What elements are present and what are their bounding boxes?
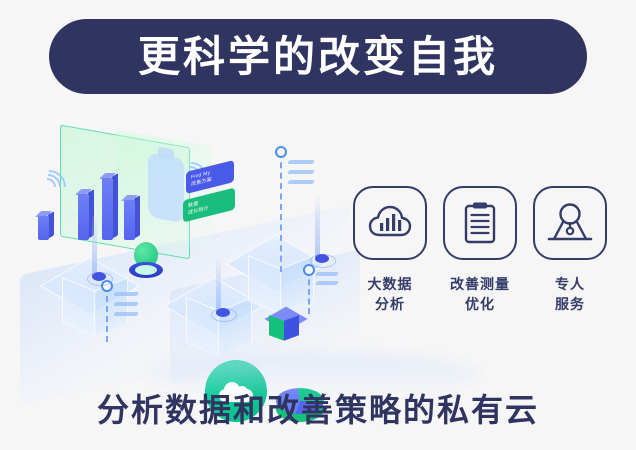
measure-post — [315, 196, 320, 260]
cloud-bar-chart-icon — [353, 186, 427, 260]
glass-cube — [180, 290, 246, 356]
decor-slant — [287, 180, 315, 184]
glass-cube — [242, 248, 308, 314]
feature-label-line2: 分析 — [375, 296, 405, 312]
feature-label-big-data: 大数据 分析 — [368, 274, 413, 314]
feature-label-line1: 改善测量 — [450, 276, 510, 292]
measure-post — [216, 258, 221, 314]
tagline: 分析数据和改善策略的私有云 — [0, 385, 636, 431]
bar-3d — [78, 194, 89, 240]
banner-title: 更科学的改变自我 — [138, 36, 498, 78]
decor-slant — [113, 312, 139, 316]
color-cube — [269, 310, 303, 344]
dashed-guide — [308, 270, 310, 314]
bar-3d — [102, 178, 113, 240]
pin-disc-inner — [135, 265, 157, 275]
feature-item-service[interactable]: 专人 服务 — [532, 186, 608, 326]
feature-item-big-data[interactable]: 大数据 分析 — [352, 186, 428, 326]
feature-item-measurement[interactable]: 改善测量 优化 — [442, 186, 518, 326]
decor-slant — [287, 170, 315, 174]
feature-label-line1: 专人 — [555, 276, 585, 292]
feature-label-line1: 大数据 — [368, 276, 413, 292]
illustration: Find My 改善方案 数据 成长统计 — [20, 120, 350, 370]
decor-slant — [315, 281, 339, 285]
measure-post-dot — [92, 272, 106, 281]
decor-slant — [113, 302, 139, 306]
dashed-guide — [280, 152, 282, 272]
feature-list: 大数据 分析 改善测量 优化 — [352, 186, 608, 326]
decor-slant — [113, 292, 139, 296]
poster-canvas: 更科学的改变自我 — [0, 0, 636, 450]
feature-label-line2: 服务 — [555, 296, 585, 312]
measure-post-dot — [216, 308, 230, 317]
bar-3d — [124, 200, 135, 240]
decor-slant — [287, 160, 315, 164]
measure-post-dot — [315, 254, 329, 263]
bar-3d — [38, 216, 49, 240]
dashed-guide-dot — [275, 146, 287, 158]
feature-label-line2: 优化 — [465, 296, 495, 312]
clipboard-icon — [443, 186, 517, 260]
feature-label-measurement: 改善测量 优化 — [450, 274, 510, 314]
service-person-icon — [533, 186, 607, 260]
title-banner: 更科学的改变自我 — [49, 19, 587, 94]
feature-label-service: 专人 服务 — [555, 274, 585, 314]
dashed-guide — [106, 286, 108, 342]
measure-post — [92, 216, 97, 278]
decor-slant — [315, 272, 339, 276]
